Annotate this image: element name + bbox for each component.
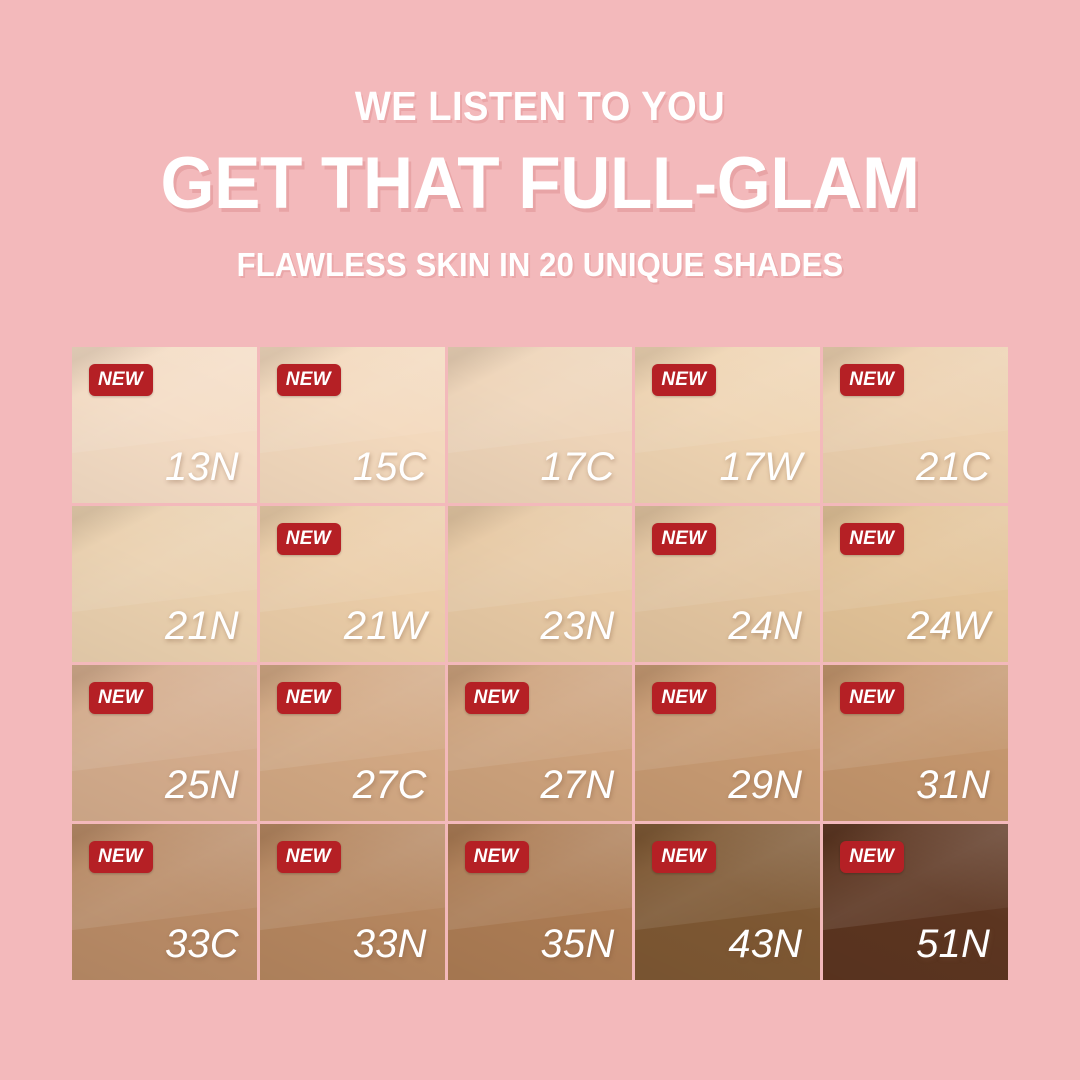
shade-swatch-17c[interactable]: NEW17C bbox=[448, 347, 633, 503]
shade-code-label: 13N bbox=[165, 447, 239, 487]
shade-swatch-23n[interactable]: NEW23N bbox=[448, 506, 633, 662]
new-badge: NEW bbox=[89, 682, 153, 714]
shade-code-label: 21C bbox=[916, 447, 990, 487]
shade-code-label: 21N bbox=[165, 606, 239, 646]
shade-swatch-15c[interactable]: NEW15C bbox=[260, 347, 445, 503]
new-badge: NEW bbox=[277, 682, 341, 714]
shade-swatch-27c[interactable]: NEW27C bbox=[260, 665, 445, 821]
new-badge: NEW bbox=[840, 841, 904, 873]
subheadline-text: FLAWLESS SKIN IN 20 UNIQUE SHADES bbox=[32, 248, 1047, 281]
shade-swatch-33c[interactable]: NEW33C bbox=[72, 824, 257, 980]
shade-swatch-35n[interactable]: NEW35N bbox=[448, 824, 633, 980]
shade-code-label: 23N bbox=[541, 606, 615, 646]
shade-swatch-13n[interactable]: NEW13N bbox=[72, 347, 257, 503]
new-badge: NEW bbox=[277, 364, 341, 396]
shade-code-label: 51N bbox=[916, 924, 990, 964]
new-badge: NEW bbox=[465, 682, 529, 714]
page-title: GET THAT FULL-GLAM bbox=[27, 147, 1053, 220]
new-badge: NEW bbox=[89, 841, 153, 873]
shade-code-label: 24W bbox=[907, 606, 990, 646]
new-badge: NEW bbox=[840, 682, 904, 714]
eyebrow-text: WE LISTEN TO YOU bbox=[38, 86, 1042, 127]
shade-code-label: 33C bbox=[165, 924, 239, 964]
shade-swatch-43n[interactable]: NEW43N bbox=[635, 824, 820, 980]
shade-code-label: 33N bbox=[353, 924, 427, 964]
shade-code-label: 21W bbox=[344, 606, 427, 646]
shade-code-label: 17C bbox=[541, 447, 615, 487]
shade-code-label: 15C bbox=[353, 447, 427, 487]
new-badge: NEW bbox=[465, 841, 529, 873]
new-badge: NEW bbox=[840, 523, 904, 555]
shade-code-label: 31N bbox=[916, 765, 990, 805]
shade-swatch-51n[interactable]: NEW51N bbox=[823, 824, 1008, 980]
shade-code-label: 24N bbox=[728, 606, 802, 646]
shade-code-label: 27N bbox=[541, 765, 615, 805]
shade-code-label: 17W bbox=[719, 447, 802, 487]
new-badge: NEW bbox=[652, 364, 716, 396]
shade-code-label: 25N bbox=[165, 765, 239, 805]
new-badge: NEW bbox=[652, 841, 716, 873]
shade-grid: NEW13NNEW15CNEW17CNEW17WNEW21CNEW21NNEW2… bbox=[72, 347, 1008, 980]
shade-code-label: 35N bbox=[541, 924, 615, 964]
shade-swatch-21w[interactable]: NEW21W bbox=[260, 506, 445, 662]
new-badge: NEW bbox=[652, 523, 716, 555]
new-badge: NEW bbox=[277, 523, 341, 555]
headline-block: WE LISTEN TO YOU GET THAT FULL-GLAM FLAW… bbox=[0, 86, 1080, 281]
new-badge: NEW bbox=[840, 364, 904, 396]
new-badge: NEW bbox=[89, 364, 153, 396]
shade-swatch-25n[interactable]: NEW25N bbox=[72, 665, 257, 821]
shade-swatch-31n[interactable]: NEW31N bbox=[823, 665, 1008, 821]
shade-swatch-27n[interactable]: NEW27N bbox=[448, 665, 633, 821]
shade-swatch-21c[interactable]: NEW21C bbox=[823, 347, 1008, 503]
new-badge: NEW bbox=[652, 682, 716, 714]
shade-code-label: 43N bbox=[728, 924, 802, 964]
shade-swatch-33n[interactable]: NEW33N bbox=[260, 824, 445, 980]
shade-swatch-29n[interactable]: NEW29N bbox=[635, 665, 820, 821]
shade-swatch-24n[interactable]: NEW24N bbox=[635, 506, 820, 662]
shade-code-label: 27C bbox=[353, 765, 427, 805]
promo-poster: WE LISTEN TO YOU GET THAT FULL-GLAM FLAW… bbox=[0, 0, 1080, 1080]
shade-swatch-24w[interactable]: NEW24W bbox=[823, 506, 1008, 662]
shade-code-label: 29N bbox=[728, 765, 802, 805]
shade-swatch-17w[interactable]: NEW17W bbox=[635, 347, 820, 503]
new-badge: NEW bbox=[277, 841, 341, 873]
shade-swatch-21n[interactable]: NEW21N bbox=[72, 506, 257, 662]
